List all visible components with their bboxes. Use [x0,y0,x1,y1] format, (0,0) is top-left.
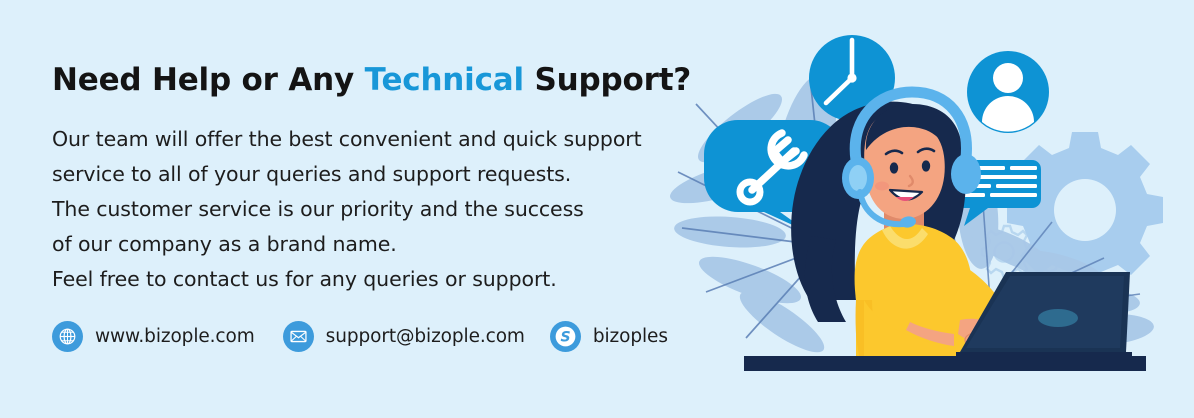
body-line-1: Our team will offer the best convenient … [52,122,752,157]
contact-label-website: www.bizople.com [95,326,255,347]
skype-icon: S [550,321,581,352]
contact-label-skype: bizoples [593,326,668,347]
user-avatar-icon [967,51,1049,133]
globe-icon [52,321,83,352]
support-illustration [660,0,1194,418]
contact-item-skype[interactable]: S bizoples [550,321,668,352]
text-column: Need Help or Any Technical Support? Our … [52,0,752,418]
body-line-2: service to all of your queries and suppo… [52,157,752,192]
headline-part-1: Need Help or Any [52,62,365,98]
contact-label-email: support@bizople.com [326,326,525,347]
body-paragraph: Our team will offer the best convenient … [52,122,752,262]
contact-item-website[interactable]: www.bizople.com [52,321,255,352]
body-line-4: of our company as a brand name. [52,227,752,262]
envelope-icon [283,321,314,352]
body-line-3: The customer service is our priority and… [52,192,752,227]
page-title: Need Help or Any Technical Support? [52,62,691,98]
support-banner: Need Help or Any Technical Support? Our … [0,0,1194,418]
svg-text:S: S [560,330,570,346]
closing-paragraph: Feel free to contact us for any queries … [52,264,557,294]
contact-item-email[interactable]: support@bizople.com [283,321,525,352]
headline-accent-word: Technical [365,62,524,98]
desk [744,356,1146,371]
contact-row: www.bizople.com support@bizople.com [52,321,668,352]
